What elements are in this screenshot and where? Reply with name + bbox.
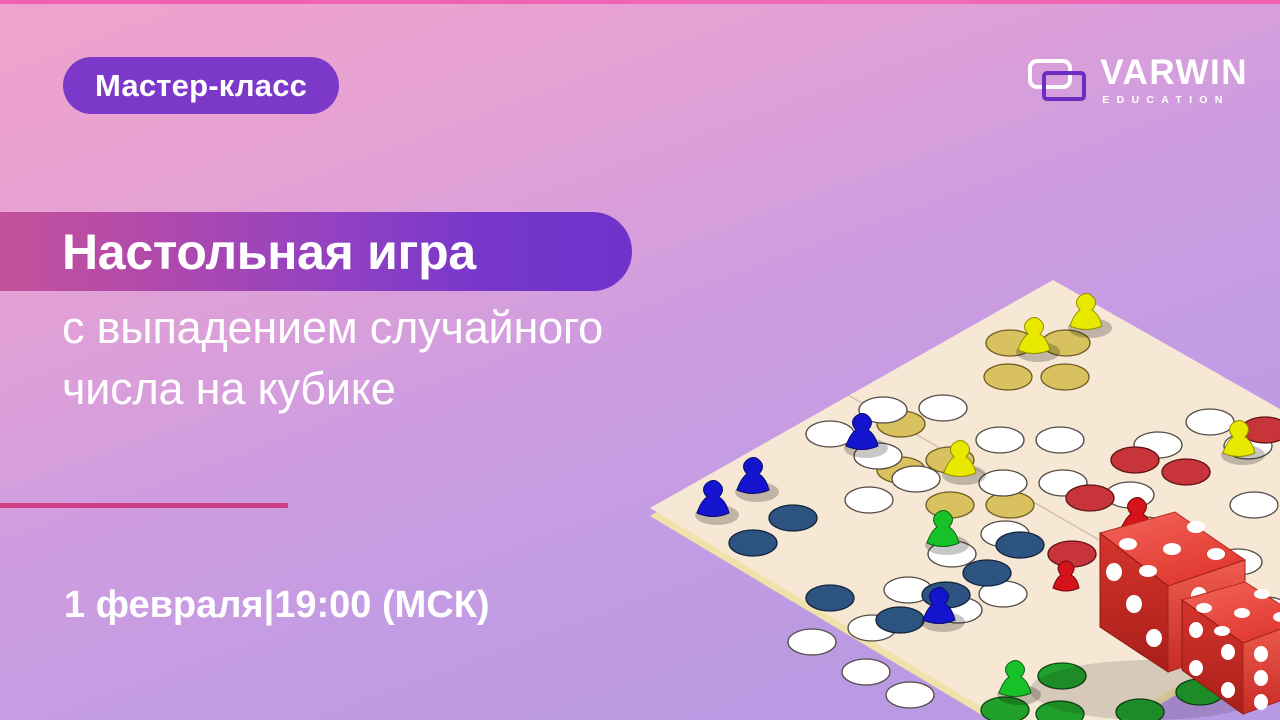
logo-wordmark: VARWIN — [1100, 55, 1248, 91]
dice-group — [1030, 512, 1280, 720]
board-path-line — [848, 395, 1120, 552]
varwin-education-logo: VARWIN EDUCATION — [1028, 55, 1248, 106]
badge-label: Мастер-класс — [95, 68, 307, 104]
event-datetime: 1 февраля|19:00 (МСК) — [64, 584, 490, 627]
logo-tagline: EDUCATION — [1100, 94, 1248, 106]
logo-square-inner-icon — [1042, 71, 1086, 101]
varwin-logo-mark-icon — [1028, 57, 1086, 103]
master-class-badge: Мастер-класс — [63, 57, 339, 114]
headline-pill: Настольная игра — [0, 212, 632, 291]
die-2 — [1182, 582, 1280, 714]
subtitle-line-1: с выпадением случайного — [62, 297, 862, 358]
die-1 — [1100, 512, 1245, 672]
top-accent-rule — [0, 0, 1280, 4]
subtitle-line-2: числа на кубике — [62, 358, 862, 419]
logo-text-block: VARWIN EDUCATION — [1100, 55, 1248, 106]
page-subtitle: с выпадением случайного числа на кубике — [62, 297, 862, 419]
accent-divider — [0, 503, 288, 508]
page-title: Настольная игра — [0, 223, 476, 281]
